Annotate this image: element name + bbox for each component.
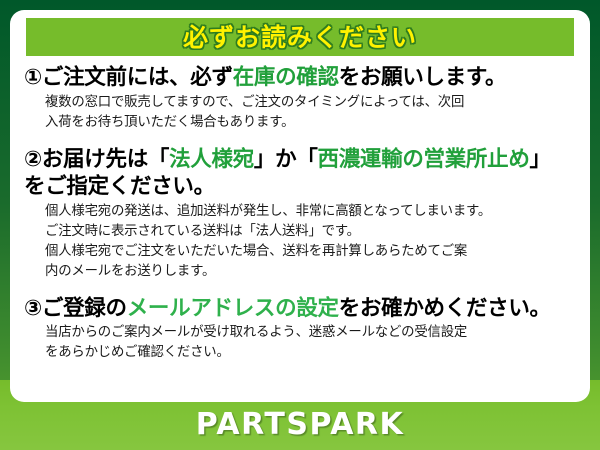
brand-logo-partspark: PARTSPARK bbox=[0, 407, 600, 442]
item-2-part-4: 」 bbox=[530, 147, 551, 172]
item-3-part-2: をお確かめください。 bbox=[339, 296, 551, 321]
notice-item-1: ①ご注文前には、必ず在庫の確認をお願いします。 複数の窓口で販売してますので、ご… bbox=[24, 64, 580, 132]
notice-item-2-subtext-line-2: ご注文時に表示されている送料は「法人送料」です。 bbox=[45, 222, 580, 241]
item-1-highlight: 在庫の確認 bbox=[233, 65, 339, 90]
notice-card: 必ずお読みください ①ご注文前には、必ず在庫の確認をお願いします。 複数の窓口で… bbox=[10, 10, 590, 402]
notice-item-1-headline: ①ご注文前には、必ず在庫の確認をお願いします。 bbox=[24, 64, 580, 92]
notice-item-3: ③ご登録のメールアドレスの設定をお確かめください。 当店からのご案内メールが受け… bbox=[24, 295, 580, 363]
item-2-part-2: 」か「 bbox=[254, 147, 318, 172]
notice-item-2: ②お届け先は「法人様宛」か「西濃運輸の営業所止め」 をご指定ください。 個人様宅… bbox=[24, 146, 580, 281]
item-1-part-2: をお願いします。 bbox=[339, 65, 506, 90]
notice-item-3-headline: ③ご登録のメールアドレスの設定をお確かめください。 bbox=[24, 295, 580, 323]
item-3-highlight: メールアドレスの設定 bbox=[127, 296, 339, 321]
item-3-number: ③ bbox=[24, 296, 42, 321]
notice-item-3-subtext-line-1: 当店からのご案内メールが受け取れるよう、迷惑メールなどの受信設定 bbox=[45, 323, 580, 342]
notice-banner: 必ずお読みください bbox=[26, 18, 574, 56]
item-2-number: ② bbox=[24, 147, 42, 172]
notice-item-2-subtext-line-3: 個人様宅宛でご注文をいただいた場合、送料を再計算しあらためてご案 bbox=[45, 242, 580, 261]
notice-item-3-subtext-line-2: をあらかじめご確認ください。 bbox=[45, 343, 580, 362]
item-2-highlight-2: 西濃運輸の営業所止め bbox=[318, 147, 530, 172]
notice-item-1-subtext-line-2: 入荷をお待ち頂いただく場合もあります。 bbox=[45, 113, 580, 132]
banner-title: 必ずお読みください bbox=[183, 25, 417, 50]
item-2-highlight-1: 法人様宛 bbox=[169, 147, 254, 172]
notice-item-2-subtext-line-1: 個人様宅宛の発送は、追加送料が発生し、非常に高額となってしまいます。 bbox=[45, 202, 580, 221]
item-1-number: ① bbox=[24, 65, 42, 90]
notice-screen: 必ずお読みください ①ご注文前には、必ず在庫の確認をお願いします。 複数の窓口で… bbox=[0, 0, 600, 450]
item-1-part-0: ご注文前には、必ず bbox=[42, 65, 233, 90]
item-2-part-0: お届け先は「 bbox=[42, 147, 169, 172]
notice-item-1-subtext-line-1: 複数の窓口で販売してますので、ご注文のタイミングによっては、次回 bbox=[45, 93, 580, 112]
notice-item-2-headline: ②お届け先は「法人様宛」か「西濃運輸の営業所止め」 bbox=[24, 146, 580, 174]
notice-content: ①ご注文前には、必ず在庫の確認をお願いします。 複数の窓口で販売してますので、ご… bbox=[10, 62, 590, 402]
notice-item-2-headline-line-2: をご指定ください。 bbox=[24, 173, 580, 201]
notice-item-2-subtext-line-4: 内のメールをお送りします。 bbox=[45, 262, 580, 281]
item-3-part-0: ご登録の bbox=[42, 296, 127, 321]
